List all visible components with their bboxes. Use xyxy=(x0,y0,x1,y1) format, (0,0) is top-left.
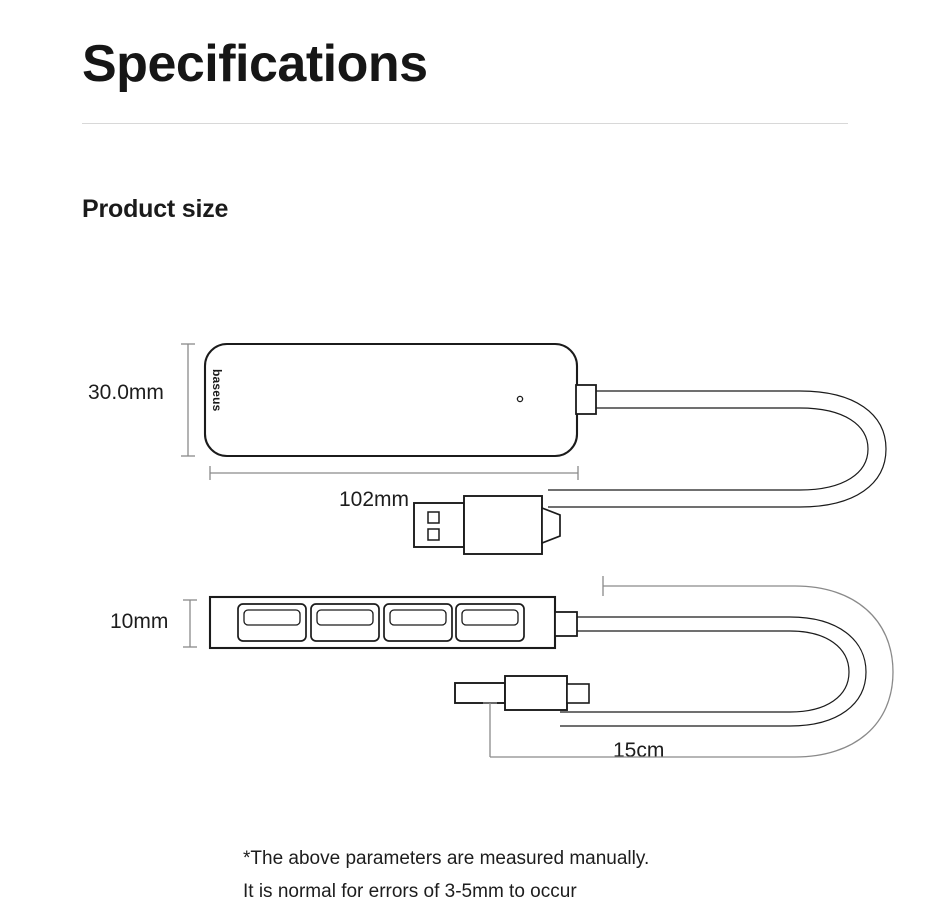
dimension-line-height xyxy=(181,344,195,456)
led-dot-icon xyxy=(517,396,522,401)
dimension-line-thickness xyxy=(183,600,197,647)
dimension-line-length xyxy=(210,466,578,480)
usb-port-openings xyxy=(238,604,524,641)
title-divider xyxy=(82,123,848,124)
hub-body-top-view xyxy=(205,344,577,456)
dimension-label-cable-length: 15cm xyxy=(613,739,664,763)
section-title-product-size: Product size xyxy=(82,195,228,224)
brand-logo-baseus: baseus xyxy=(210,369,224,412)
dimension-label-thickness: 10mm xyxy=(110,610,168,634)
cable-strain-relief-top-view xyxy=(576,385,596,414)
specifications-page: Specifications Product size 30.0mm 102mm… xyxy=(0,0,930,918)
footnote: *The above parameters are measured manua… xyxy=(243,842,649,908)
usb-a-connector-icon-side-view xyxy=(455,676,589,710)
usb-port-3 xyxy=(384,604,452,641)
dimension-label-height: 30.0mm xyxy=(88,381,164,405)
hub-body-side-view xyxy=(210,597,555,648)
footnote-line-2: It is normal for errors of 3-5mm to occu… xyxy=(243,875,649,908)
cable-strain-relief-side-view xyxy=(555,612,577,636)
dimension-label-length: 102mm xyxy=(339,488,409,512)
product-technical-drawing xyxy=(0,0,930,918)
usb-port-4 xyxy=(456,604,524,641)
page-title: Specifications xyxy=(82,36,428,93)
usb-port-2 xyxy=(311,604,379,641)
usb-a-connector-icon-top-view xyxy=(414,496,560,554)
cable-side-view xyxy=(560,617,866,726)
footnote-line-1: *The above parameters are measured manua… xyxy=(243,842,649,875)
usb-port-1 xyxy=(238,604,306,641)
dimension-line-cable-length xyxy=(483,576,893,757)
cable-top-view xyxy=(548,391,886,507)
